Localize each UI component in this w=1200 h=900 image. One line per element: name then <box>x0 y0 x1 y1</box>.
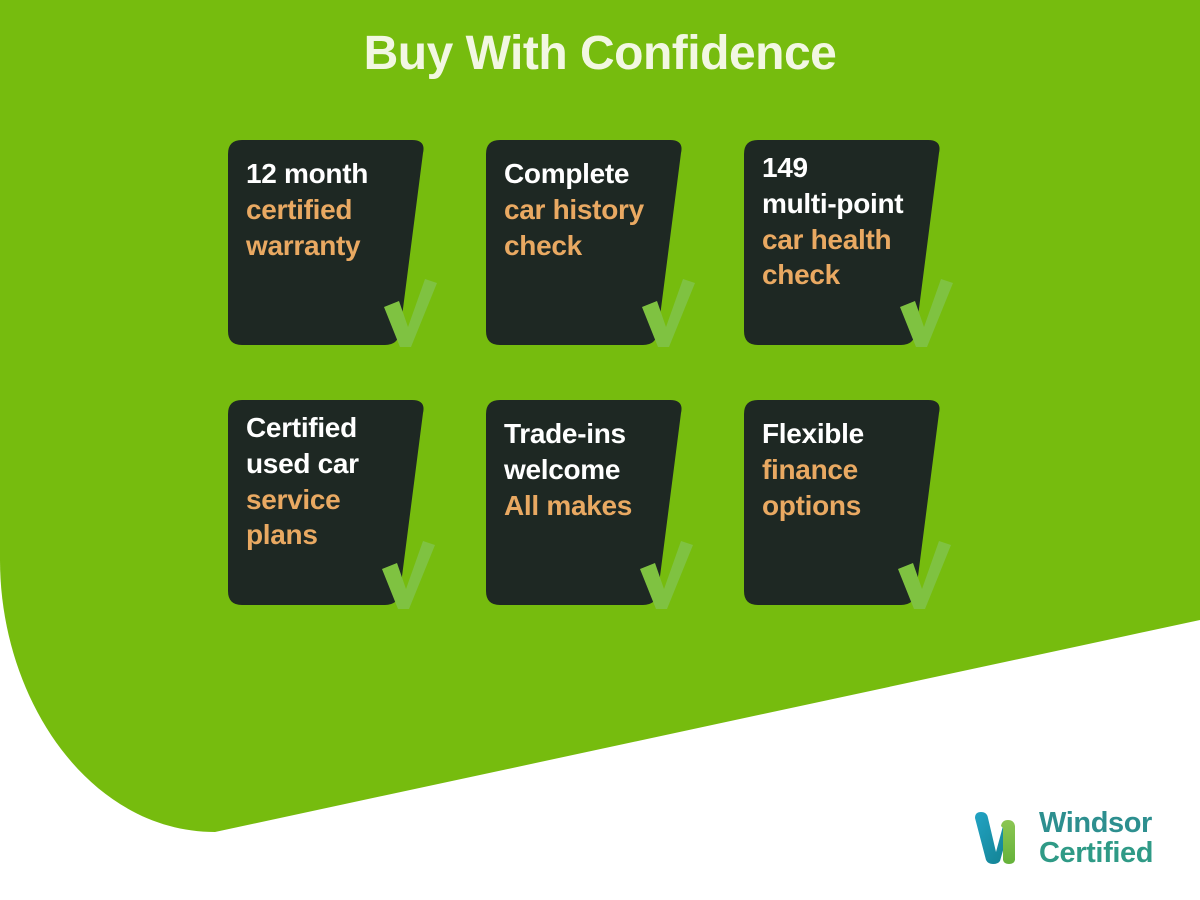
card-text-block: Certified used car service plans <box>246 410 422 553</box>
card-line: multi-point <box>762 186 938 222</box>
brand-logo[interactable]: Windsor Certified <box>972 808 1153 868</box>
card-line: 12 month <box>246 156 422 192</box>
card-line: welcome <box>504 452 680 488</box>
feature-card-12-month-certified-warranty[interactable]: 12 month certified warranty <box>228 140 460 345</box>
feature-card-complete-car-history-check[interactable]: Complete car history check <box>486 140 718 345</box>
card-line: All makes <box>504 488 680 524</box>
green-checkmark-icon <box>892 539 954 611</box>
card-line: car health <box>762 222 938 258</box>
feature-card-grid: 12 month certified warranty Complete car… <box>228 140 976 605</box>
card-line: certified <box>246 192 422 228</box>
card-line: warranty <box>246 228 422 264</box>
card-line: service <box>246 482 422 518</box>
card-line: check <box>504 228 680 264</box>
card-line: options <box>762 488 938 524</box>
card-line: Certified <box>246 410 422 446</box>
brand-name-line-1: Windsor <box>1039 808 1153 838</box>
card-text-block: 149 multi-point car health check <box>762 150 938 293</box>
card-line: Trade-ins <box>504 416 680 452</box>
brand-wordmark: Windsor Certified <box>1039 808 1153 868</box>
card-line: 149 <box>762 150 938 186</box>
green-checkmark-icon <box>894 277 956 349</box>
feature-card-certified-used-car-service-plans[interactable]: Certified used car service plans <box>228 400 460 605</box>
windsor-w-logo-icon <box>972 812 1030 864</box>
page-title: Buy With Confidence <box>0 26 1200 81</box>
card-text-block: Trade-ins welcome All makes <box>504 416 680 523</box>
card-text-block: Complete car history check <box>504 156 680 263</box>
feature-card-flexible-finance-options[interactable]: Flexible finance options <box>744 400 976 605</box>
card-line: Flexible <box>762 416 938 452</box>
card-line: Complete <box>504 156 680 192</box>
card-text-block: Flexible finance options <box>762 416 938 523</box>
feature-card-trade-ins-welcome-all-makes[interactable]: Trade-ins welcome All makes <box>486 400 718 605</box>
green-checkmark-icon <box>634 539 696 611</box>
card-text-block: 12 month certified warranty <box>246 156 422 263</box>
green-checkmark-icon <box>376 539 438 611</box>
green-checkmark-icon <box>378 277 440 349</box>
green-checkmark-icon <box>636 277 698 349</box>
card-line: finance <box>762 452 938 488</box>
card-line: used car <box>246 446 422 482</box>
brand-name-line-2: Certified <box>1039 838 1153 868</box>
feature-card-149-multi-point-car-health-check[interactable]: 149 multi-point car health check <box>744 140 976 345</box>
card-line: car history <box>504 192 680 228</box>
